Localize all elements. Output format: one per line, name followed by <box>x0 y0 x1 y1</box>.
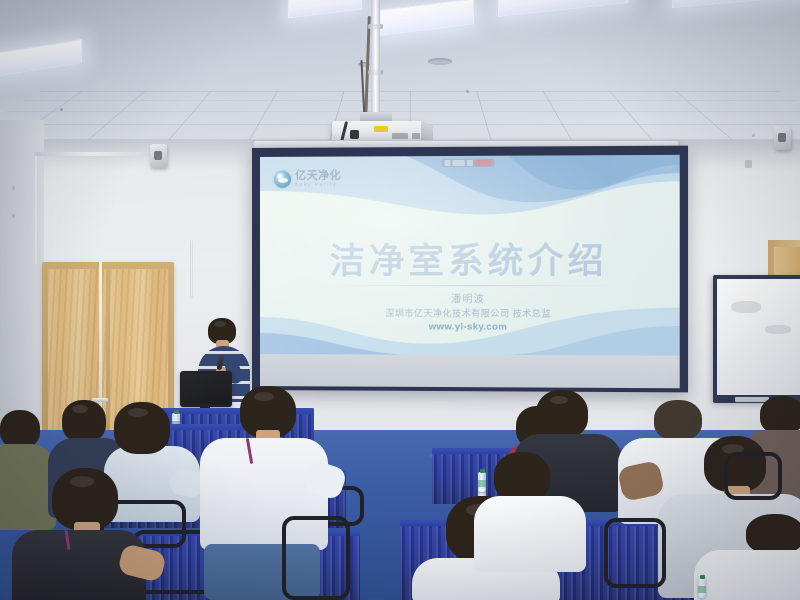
presenter-monitor <box>180 371 232 407</box>
slide-divider-rule <box>334 285 617 286</box>
slide-nav-icon[interactable] <box>467 160 473 166</box>
projector-warning-label <box>374 126 388 132</box>
end-show-icon[interactable] <box>475 160 491 166</box>
projector-pole-band-mid <box>368 70 383 75</box>
wall-speaker-right <box>774 126 791 150</box>
attendee-torso <box>694 550 800 600</box>
ceiling-light-top-right <box>288 0 362 19</box>
pointer-icon[interactable] <box>453 160 465 166</box>
presentation-slide: 亿天净化 Esky Purify 洁净室系统介绍 潘明波 深圳市亿天净化技术有限… <box>260 155 680 356</box>
wall-conduit-right-drop <box>190 240 193 298</box>
logo-text-block: 亿天净化 Esky Purify <box>295 171 341 188</box>
attendee-head <box>746 514 800 554</box>
ceiling-light-far-right <box>498 0 628 17</box>
wall-screw-b <box>12 214 15 218</box>
slide-presenter-org: 深圳市亿天净化技术有限公司 技术总监 <box>260 306 680 320</box>
chair-back[interactable] <box>724 452 782 500</box>
projector-mount-pole <box>371 0 380 118</box>
ceiling-light-edge-right <box>672 0 800 8</box>
projector-vent-b <box>412 133 420 139</box>
water-bottle[interactable] <box>698 578 706 598</box>
projector-power-plug <box>350 130 359 139</box>
ceiling-light-right <box>380 0 474 36</box>
projection-screen-lower-blank <box>260 354 680 388</box>
ceiling-sprinkler <box>60 108 63 111</box>
slide-title: 洁净室系统介绍 <box>260 232 680 284</box>
logo-globe-icon <box>274 171 291 188</box>
attendee-head <box>760 396 800 434</box>
powerpoint-presenter-toolbar[interactable] <box>441 159 494 167</box>
seminar-room-photo: 亿天净化 Esky Purify 洁净室系统介绍 潘明波 深圳市亿天净化技术有限… <box>0 0 800 600</box>
slide-website-url: www.yi-sky.com <box>260 321 680 333</box>
attendee-head <box>0 410 40 448</box>
wall-outlet[interactable] <box>745 160 752 168</box>
projection-screen-surface: 亿天净化 Esky Purify 洁净室系统介绍 潘明波 深圳市亿天净化技术有限… <box>260 155 680 356</box>
attendee-head <box>494 452 550 502</box>
whiteboard-smudge-b <box>765 325 791 334</box>
speaker-grill <box>154 151 162 160</box>
wall-speaker-left <box>150 144 167 168</box>
chair-back[interactable] <box>282 516 350 600</box>
speaker-grill <box>778 133 786 142</box>
slide-page-number: 3 <box>664 342 668 349</box>
pen-icon[interactable] <box>444 160 450 166</box>
projection-screen-frame: 亿天净化 Esky Purify 洁净室系统介绍 潘明波 深圳市亿天净化技术有限… <box>252 146 688 393</box>
logo-english-name: Esky Purify <box>295 183 341 188</box>
attendee-torso <box>474 496 586 572</box>
ceiling-sensor <box>466 90 469 93</box>
projector-vent-a <box>392 133 408 139</box>
wall-screw-a <box>12 186 15 190</box>
projector-pole-band-top <box>368 24 383 29</box>
slide-presenter-name: 潘明波 <box>260 290 680 306</box>
monitor-screen <box>182 373 230 404</box>
wall-conduit-horizontal <box>34 152 160 156</box>
logo-chinese-name: 亿天净化 <box>295 171 341 182</box>
ceiling-vent <box>428 58 452 65</box>
attendee-head <box>654 400 702 440</box>
whiteboard-smudge-a <box>731 301 761 313</box>
whiteboard-surface[interactable] <box>717 279 800 395</box>
ceiling <box>0 0 800 152</box>
wall-screw-c <box>752 134 755 137</box>
ceiling-light-left <box>0 39 82 77</box>
company-logo: 亿天净化 Esky Purify <box>274 171 341 188</box>
wall-conduit-vertical <box>34 152 38 264</box>
whiteboard[interactable] <box>713 275 800 403</box>
chair-back[interactable] <box>604 518 666 588</box>
water-bottle[interactable] <box>478 472 486 492</box>
